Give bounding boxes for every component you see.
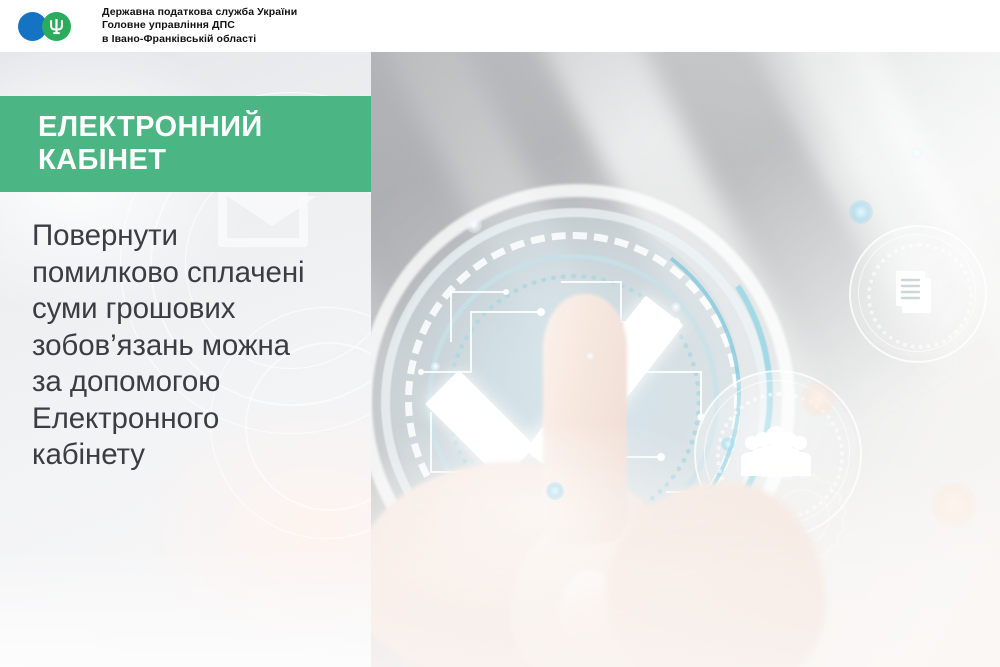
message-line-2: помилково сплачені <box>32 255 392 292</box>
org-line-1: Державна податкова служба України <box>102 6 297 19</box>
photo-streak <box>403 52 709 398</box>
photo-streak <box>577 52 955 430</box>
photo-streak <box>371 52 566 450</box>
photo-streak <box>484 52 808 393</box>
message-line-5: за допомогою <box>32 364 392 401</box>
bokeh-spark <box>911 147 923 159</box>
logo-green-circle <box>42 12 71 41</box>
electronic-cabinet-banner: ЕЛЕКТРОННИЙ КАБІНЕТ <box>0 96 371 192</box>
documents-medallion-ring <box>849 225 987 363</box>
bokeh-spark <box>671 302 681 312</box>
message-line-3: суми грошових <box>32 291 392 328</box>
photo-streak <box>798 52 1000 427</box>
organisation-name: Державна податкова служба України Головн… <box>102 6 297 46</box>
ukraine-trident-icon <box>49 18 64 35</box>
organisation-logo <box>18 10 84 42</box>
page-header: Державна податкова служба України Головн… <box>0 0 1000 52</box>
org-line-2: Головне управління ДПС <box>102 19 297 32</box>
documents-medallion-disc <box>851 227 981 357</box>
message-line-1: Повернути <box>32 218 392 255</box>
message-line-4: зобов’язань можна <box>32 328 392 365</box>
documents-icon <box>886 262 946 322</box>
hero-photo <box>371 52 1000 667</box>
message-line-7: кабінету <box>32 437 392 474</box>
bokeh-spark <box>431 362 440 371</box>
message-line-6: Електронного <box>32 401 392 438</box>
photo-streak <box>691 52 1000 425</box>
org-line-3: в Івано-Франківській області <box>102 33 297 46</box>
slide-canvas: ЕЛЕКТРОННИЙ КАБІНЕТ Повернути помилково … <box>0 0 1000 667</box>
bokeh-spark <box>586 352 594 360</box>
left-panel-fade <box>0 547 371 667</box>
bokeh-spark <box>801 382 835 416</box>
bokeh-spark <box>466 217 482 233</box>
banner-line-1: ЕЛЕКТРОННИЙ <box>0 111 371 144</box>
banner-line-2: КАБІНЕТ <box>0 144 371 177</box>
photo-bottom-fade <box>371 457 1000 667</box>
documents-medallion-ring <box>858 234 976 352</box>
message-text: Повернути помилково сплачені суми грошов… <box>0 218 392 474</box>
bokeh-spark <box>849 200 873 224</box>
bokeh-spark <box>721 437 735 451</box>
documents-medallion-ring <box>867 243 973 349</box>
